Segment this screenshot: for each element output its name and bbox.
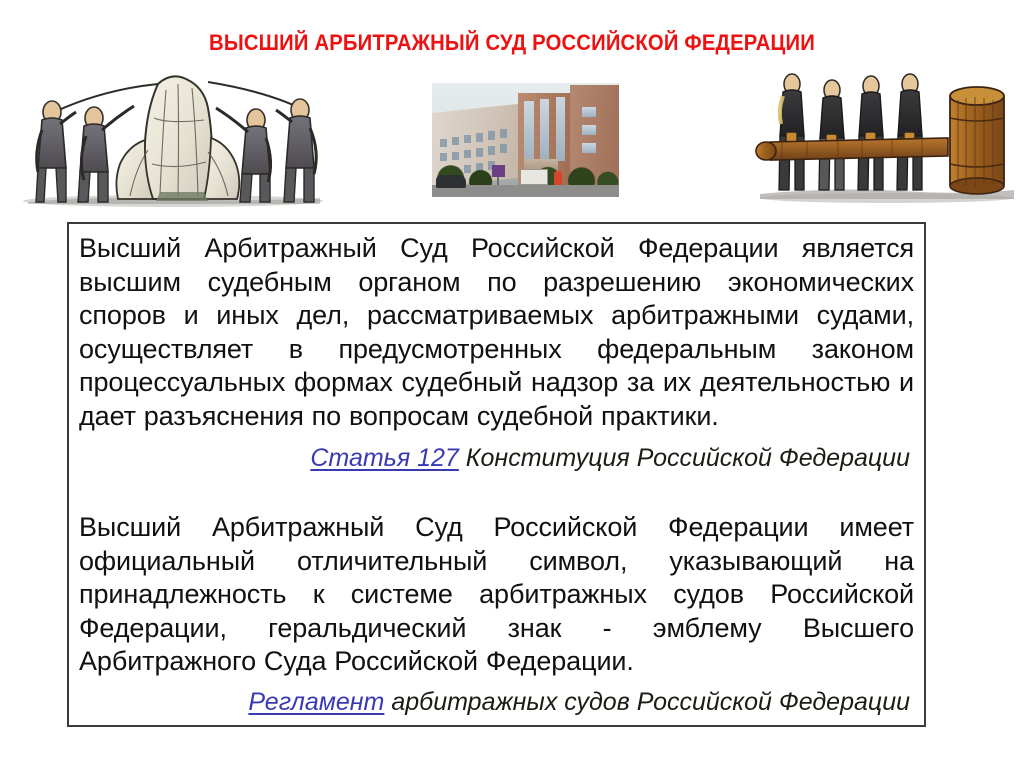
citation-source-link-article-127[interactable]: Статья 127 [310, 444, 459, 472]
page-title: ВЫСШИЙ АРБИТРАЖНЫЙ СУД РОССИЙСКОЙ ФЕДЕРА… [41, 30, 983, 56]
unveiling-monument-illustration [8, 68, 338, 208]
paragraph-spacer [79, 475, 914, 511]
citation-constitution: Статья 127 Конституция Российской Федера… [79, 441, 914, 475]
citation-document-reglament: арбитражных судов Российской Федерации [391, 688, 910, 716]
content-box: Высший Арбитражный Суд Российской Федера… [67, 222, 926, 727]
illustration-band [0, 66, 1024, 208]
constitution-paragraph: Высший Арбитражный Суд Российской Федера… [79, 232, 914, 433]
citation-reglament: Регламент арбитражных судов Российской Ф… [79, 685, 914, 719]
citation-document-constitution: Конституция Российской Федерации [466, 444, 910, 472]
citation-source-link-reglament[interactable]: Регламент [248, 688, 384, 716]
emblem-paragraph: Высший Арбитражный Суд Российской Федера… [79, 511, 914, 679]
giant-gavel-illustration [752, 66, 1022, 208]
courthouse-photo [432, 83, 619, 197]
